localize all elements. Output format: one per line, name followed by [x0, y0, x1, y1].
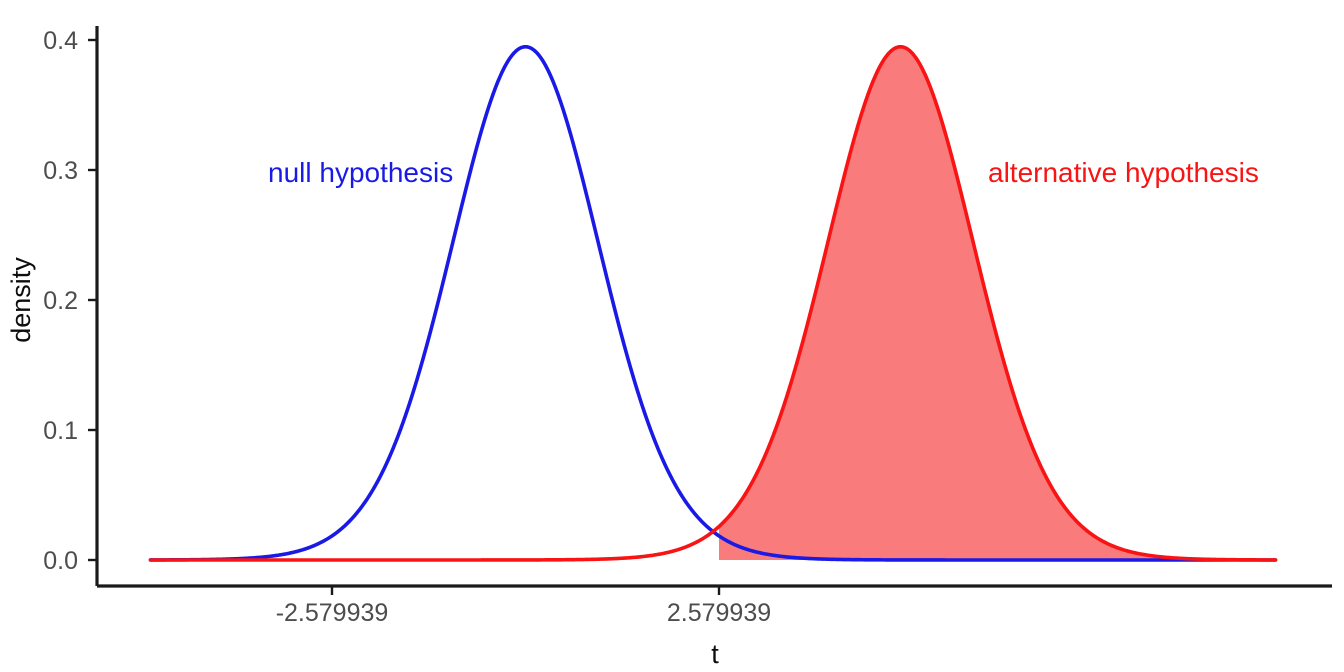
x-ticklabel-1: 2.579939 — [667, 599, 771, 627]
x-axis-title: t — [711, 639, 719, 669]
plot-background — [0, 0, 1344, 672]
y-ticklabel-3: 0.1 — [43, 417, 78, 445]
x-ticklabel-0: -2.579939 — [276, 599, 389, 627]
y-ticklabel-1: 0.3 — [43, 157, 78, 185]
null-hypothesis-annotation: null hypothesis — [268, 157, 453, 188]
y-ticklabel-4: 0.0 — [43, 547, 78, 575]
y-ticklabel-0: 0.4 — [43, 27, 78, 55]
density-plot-svg: 0.4 0.3 0.2 0.1 0.0 -2.579939 2.579939 t… — [0, 0, 1344, 672]
alternative-hypothesis-annotation: alternative hypothesis — [988, 157, 1259, 188]
y-ticklabel-2: 0.2 — [43, 287, 78, 315]
chart-canvas: 0.4 0.3 0.2 0.1 0.0 -2.579939 2.579939 t… — [0, 0, 1344, 672]
y-axis-title: density — [6, 257, 36, 343]
